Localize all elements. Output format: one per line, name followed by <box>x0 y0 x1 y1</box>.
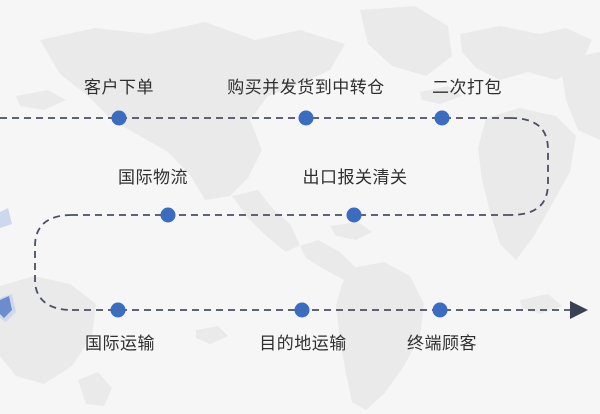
diagram-canvas: 客户下单 购买并发货到中转仓 二次打包 国际物流 出口报关清关 国际运输 目的地… <box>0 0 600 414</box>
node-label-n4: 国际物流 <box>118 168 188 188</box>
node-label-n7: 目的地运输 <box>259 334 347 354</box>
node-dot-n4[interactable] <box>161 208 176 223</box>
node-dot-n3[interactable] <box>435 111 450 126</box>
node-dot-n2[interactable] <box>299 111 314 126</box>
flow-arrowhead-icon <box>570 301 588 319</box>
node-label-n5: 出口报关清关 <box>303 168 408 188</box>
node-label-n6: 国际运输 <box>85 334 155 354</box>
node-label-n8: 终端顾客 <box>407 334 477 354</box>
node-label-n1: 客户下单 <box>84 78 154 98</box>
node-dot-n6[interactable] <box>111 303 126 318</box>
node-dot-n5[interactable] <box>347 208 362 223</box>
node-dot-n1[interactable] <box>112 111 127 126</box>
flow-segment-left-u-turn <box>35 215 72 310</box>
node-label-n3: 二次打包 <box>432 78 502 98</box>
node-dot-n7[interactable] <box>295 303 310 318</box>
flow-segment-right-u-turn <box>510 118 548 215</box>
node-dot-n8[interactable] <box>433 303 448 318</box>
node-label-n2: 购买并发货到中转仓 <box>227 78 385 98</box>
